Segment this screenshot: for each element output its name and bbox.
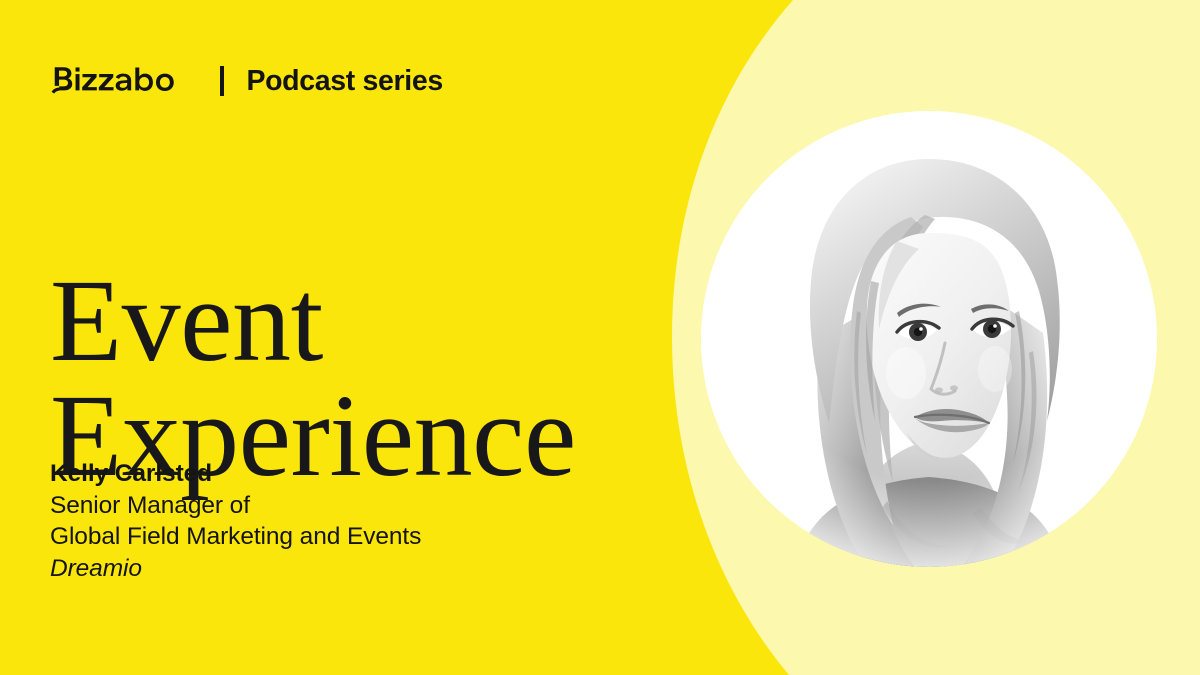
speaker-portrait <box>701 111 1157 567</box>
speaker-name: Kelly Carlsted <box>50 458 421 490</box>
speaker-portrait-image <box>701 111 1157 567</box>
speaker-credit: Kelly Carlsted Senior Manager of Global … <box>50 458 421 584</box>
podcast-title-slide: Podcast series Event Experience Kelly Ca… <box>0 0 1200 675</box>
bizzabo-logo[interactable] <box>50 66 194 96</box>
speaker-title-line-1: Senior Manager of <box>50 490 421 522</box>
speaker-company: Dreamio <box>50 553 421 585</box>
brand-bar: Podcast series <box>50 58 443 104</box>
brand-kicker: Podcast series <box>246 67 442 96</box>
page-title-line-1: Event <box>50 263 576 378</box>
brand-divider <box>220 66 224 96</box>
speaker-title-line-2: Global Field Marketing and Events <box>50 521 421 553</box>
